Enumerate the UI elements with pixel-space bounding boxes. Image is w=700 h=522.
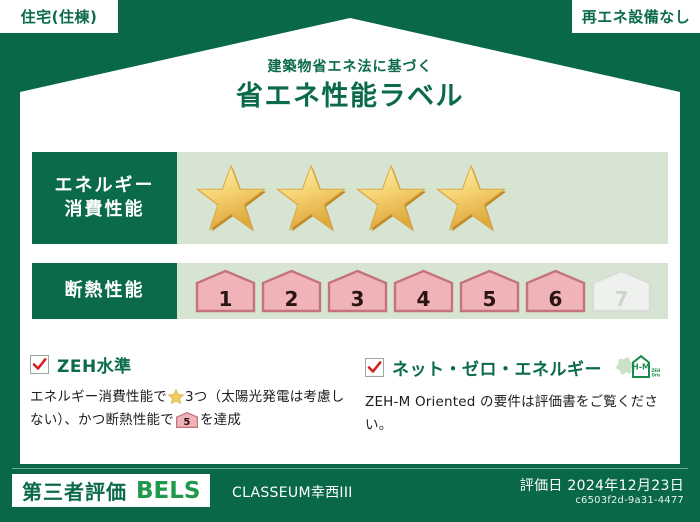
star-rating: [177, 163, 508, 233]
insulation-grade-value: 4: [392, 289, 455, 309]
star-icon: [354, 163, 428, 233]
svg-text:H-M: H-M: [632, 363, 650, 372]
star-icon: [434, 163, 508, 233]
insulation-grade-value: 2: [260, 289, 323, 309]
evaluation-date: 評価日 2024年12月23日: [520, 475, 684, 495]
zeh-standard-block: ZEH水準 エネルギー消費性能で3つ（太陽光発電は考慮しない）、かつ断熱性能で5…: [30, 352, 348, 432]
insulation-performance-value: 1234567: [177, 263, 668, 319]
insulation-grade-badge: 5: [458, 269, 521, 314]
svg-text:Oriented: Oriented: [652, 373, 661, 378]
insulation-grade-badge: 7: [590, 269, 653, 314]
page-title: 省エネ性能ラベル: [0, 83, 700, 110]
energy-performance-label: 住宅(住棟) 再エネ設備なし 建築物省エネ法に基づく 省エネ性能ラベル エネルギ…: [0, 0, 700, 522]
insulation-grade-value: 1: [194, 289, 257, 309]
bels-en-label: BELS: [136, 478, 200, 504]
energy-key-line1: エネルギー: [55, 174, 155, 198]
energy-performance-row: エネルギー 消費性能: [32, 152, 668, 244]
net-zero-description: ZEH-M Oriented の要件は評価書をご覧ください。: [365, 391, 675, 437]
insulation-grade-badge: 6: [524, 269, 587, 314]
insulation-grade-badge: 2: [260, 269, 323, 314]
energy-performance-value: [177, 152, 668, 244]
zeh-text-part3: を達成: [200, 412, 241, 428]
zeh-heading: ZEH水準: [30, 352, 348, 377]
insulation-performance-key: 断熱性能: [32, 263, 177, 319]
renewable-energy-tag: 再エネ設備なし: [572, 0, 700, 33]
bels-badge: 第三者評価 BELS: [12, 474, 210, 507]
net-zero-title: ネット・ゼロ・エネルギー: [392, 355, 602, 380]
insulation-grade-value: 5: [458, 289, 521, 309]
zeh-description: エネルギー消費性能で3つ（太陽光発電は考慮しない）、かつ断熱性能で5を達成: [30, 386, 348, 432]
insulation-grade-value: 6: [524, 289, 587, 309]
label-subtitle: 建築物省エネ法に基づく: [0, 60, 700, 74]
net-zero-heading: ネット・ゼロ・エネルギー H-M ZEH-M Oriented: [365, 352, 675, 382]
footer-divider: [12, 468, 688, 469]
insulation-grade-value: 3: [326, 289, 389, 309]
check-icon: [32, 357, 47, 372]
building-type-tag: 住宅(住棟): [0, 0, 118, 33]
zeh-title: ZEH水準: [57, 352, 132, 377]
star-icon: [194, 163, 268, 233]
star-icon: [168, 389, 184, 404]
project-name: CLASSEUM幸西III: [232, 482, 353, 502]
insulation-grade-badge: 3: [326, 269, 389, 314]
insulation-grade-value: 7: [590, 289, 653, 309]
star-icon: [274, 163, 348, 233]
check-icon: [367, 360, 382, 375]
label-footer: 第三者評価 BELS CLASSEUM幸西III 評価日 2024年12月23日…: [0, 466, 700, 522]
zeh-m-oriented-logo: H-M ZEH-M Oriented: [614, 352, 660, 382]
insulation-key-label: 断熱性能: [65, 279, 145, 303]
zeh-text-part1: エネルギー消費性能で: [30, 389, 167, 405]
label-title-block: 建築物省エネ法に基づく 省エネ性能ラベル: [0, 60, 700, 110]
inline-grade-value: 5: [176, 418, 198, 428]
insulation-performance-row: 断熱性能 1234567: [32, 263, 668, 319]
insulation-grade-badge: 4: [392, 269, 455, 314]
bels-jp-label: 第三者評価: [22, 476, 127, 505]
inline-grade-badge: 5: [176, 412, 198, 428]
evaluation-id: c6503f2d-9a31-4477: [575, 495, 684, 506]
zeh-checkbox: [30, 355, 49, 374]
net-zero-energy-block: ネット・ゼロ・エネルギー H-M ZEH-M Oriented ZEH-M Or…: [365, 352, 675, 437]
energy-performance-key: エネルギー 消費性能: [32, 152, 177, 244]
energy-key-line2: 消費性能: [65, 198, 145, 222]
net-zero-checkbox: [365, 358, 384, 377]
insulation-grade-scale: 1234567: [177, 269, 653, 314]
insulation-grade-badge: 1: [194, 269, 257, 314]
